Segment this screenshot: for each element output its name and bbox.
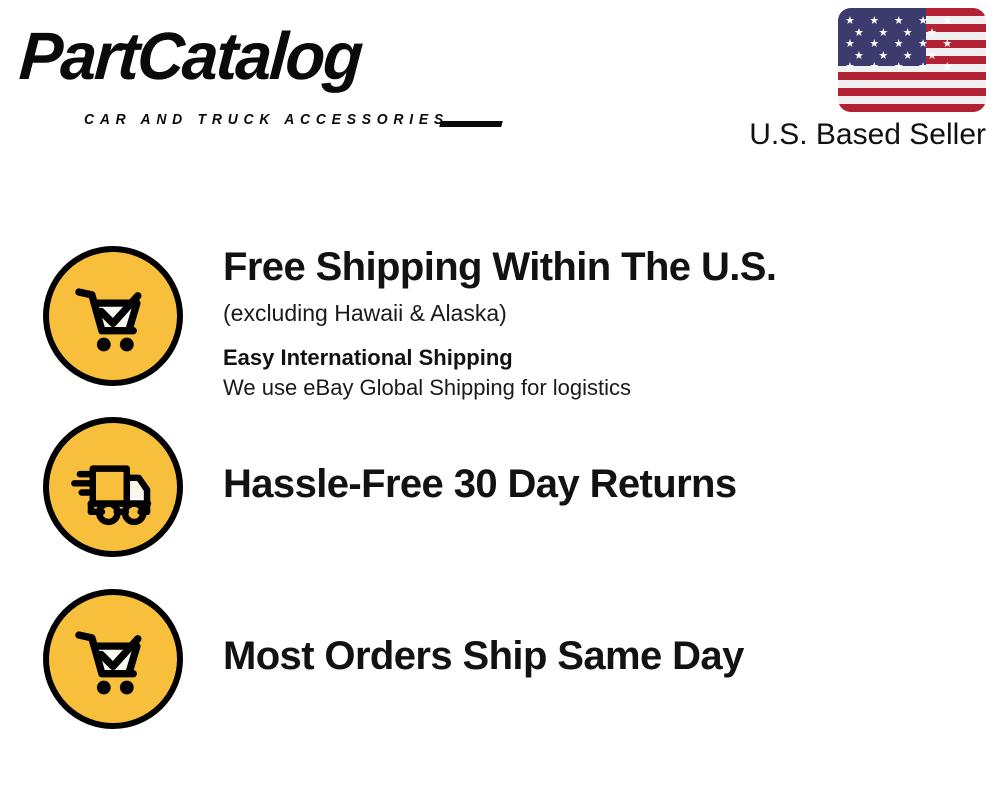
feature-text: Most Orders Ship Same Day [223, 589, 1000, 678]
brand-logo: PartCatalog CAR AND TRUCK ACCESSORIES [22, 24, 492, 116]
us-based-seller-badge: ★ ★ ★ ★ ★ ★ ★ ★ ★ ★ ★ ★ ★ ★ ★ ★ ★ ★ ★ ★ … [716, 8, 986, 152]
shopping-cart-check-icon [43, 589, 183, 729]
feature-title: Free Shipping Within The U.S. [223, 246, 1000, 289]
feature-note-body: We use eBay Global Shipping for logistic… [223, 374, 1000, 403]
feature-title: Most Orders Ship Same Day [223, 635, 1000, 678]
feature-title: Hassle-Free 30 Day Returns [223, 463, 1000, 506]
promo-banner: PartCatalog CAR AND TRUCK ACCESSORIES ★ … [0, 0, 1000, 800]
feature-subtitle: (excluding Hawaii & Alaska) [223, 299, 1000, 328]
shopping-cart-check-icon [43, 246, 183, 386]
feature-note-title: Easy International Shipping [223, 344, 1000, 372]
feature-text: Free Shipping Within The U.S. (excluding… [223, 246, 1000, 403]
feature-text: Hassle-Free 30 Day Returns [223, 417, 1000, 506]
seller-label: U.S. Based Seller [716, 118, 986, 152]
feature-row: Hassle-Free 30 Day Returns [0, 417, 1000, 557]
feature-row: Most Orders Ship Same Day [0, 589, 1000, 729]
us-flag-icon: ★ ★ ★ ★ ★ ★ ★ ★ ★ ★ ★ ★ ★ ★ ★ ★ ★ ★ ★ ★ … [838, 8, 986, 112]
flag-stars: ★ ★ ★ ★ ★ ★ ★ ★ ★ ★ ★ ★ ★ ★ ★ ★ ★ ★ ★ ★ … [838, 8, 926, 66]
brand-underline-accent [439, 121, 502, 127]
brand-tagline: CAR AND TRUCK ACCESSORIES [84, 112, 449, 128]
brand-wordmark: PartCatalog [17, 22, 363, 92]
feature-row: Free Shipping Within The U.S. (excluding… [0, 246, 1000, 403]
delivery-truck-icon [43, 417, 183, 557]
